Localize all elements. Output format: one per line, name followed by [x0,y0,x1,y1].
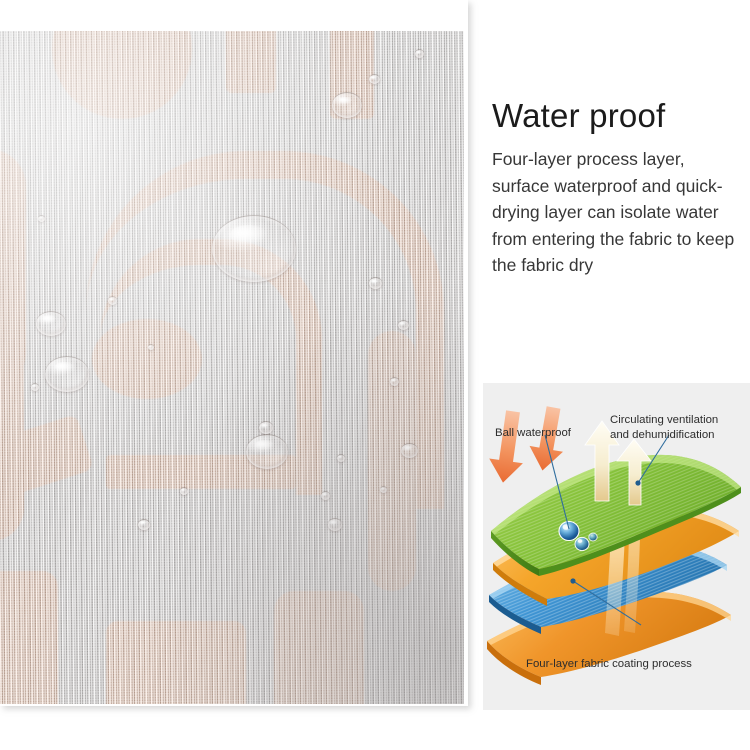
label-circulating-ventilation-line1: Circulating ventilation [610,414,718,426]
water-droplet [390,377,399,386]
water-droplet [108,296,117,305]
water-droplet [328,518,342,531]
label-ball-waterproof: Ball waterproof [495,427,572,439]
label-circulating-ventilation-line2: and dehumidification [610,429,715,441]
water-droplet [180,487,188,495]
layer-structure-diagram: Ball waterproof Circulating ventilation … [483,383,750,710]
pattern-shape-11 [368,331,416,591]
water-droplet [212,215,296,282]
water-droplet [321,491,330,500]
water-droplet [369,277,382,289]
water-droplet [38,215,45,222]
water-droplet [380,486,387,493]
water-droplet [259,421,273,434]
water-droplet [148,344,154,350]
description-text: Four-layer process layer, surface waterp… [492,146,742,279]
water-droplet [401,443,418,458]
water-droplet [337,454,345,462]
water-droplet [398,320,409,330]
product-infographic: Water proof Four-layer process layer, su… [0,0,750,750]
water-droplet [246,434,288,469]
fabric-photo-frame [0,0,474,713]
page-title: Water proof [492,99,665,132]
four-layer-diagram-panel: Ball waterproof Circulating ventilation … [483,383,750,710]
water-repelled-arrows [486,405,570,485]
pattern-shape-9 [0,571,58,704]
pattern-shape-2 [226,31,276,93]
pattern-shape-10 [274,591,364,704]
label-four-layer-coating: Four-layer fabric coating process [526,658,692,670]
fabric-photograph [0,31,464,704]
water-droplet [36,311,66,336]
pattern-ellipse [92,319,202,399]
water-droplet [369,74,380,84]
water-droplet [138,519,150,530]
water-droplet [415,49,424,58]
water-droplet [31,383,39,391]
water-droplet [45,356,89,392]
leader-dot-ventilation [635,480,640,485]
water-droplet [332,92,362,118]
pattern-shape-8 [106,621,246,704]
leader-dot-four-layer [570,578,575,583]
